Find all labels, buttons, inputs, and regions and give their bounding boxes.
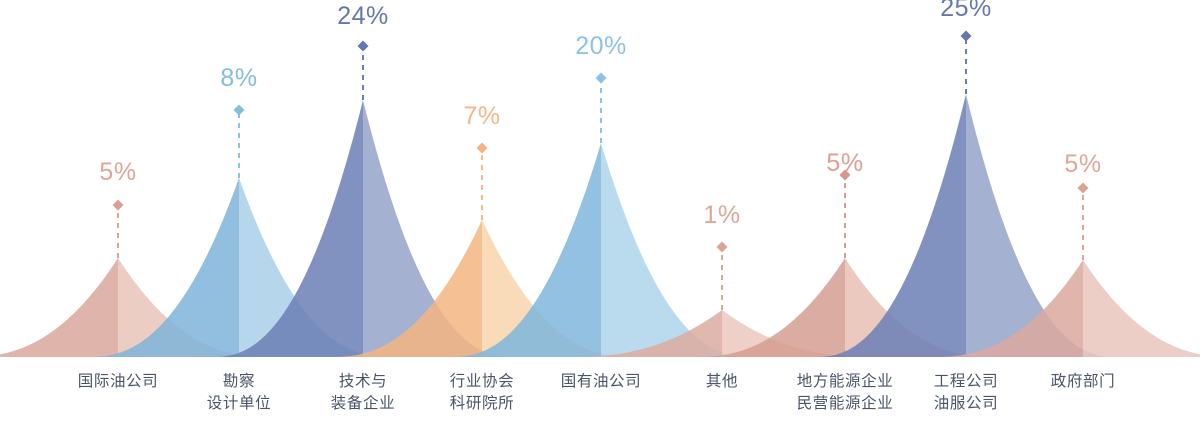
diamond-marker-icon: [1078, 183, 1089, 194]
diamond-marker-icon: [477, 143, 488, 154]
peak-leader-7: [840, 170, 851, 259]
diamond-marker-icon: [113, 200, 124, 211]
peak-leader-2: [234, 105, 245, 179]
diamond-marker-icon: [717, 242, 728, 253]
chart-container: 5%8%24%7%20%1%5%25%5%国际油公司勘察设计单位技术与装备企业行…: [0, 0, 1200, 422]
diamond-marker-icon: [234, 105, 245, 116]
diamond-marker-icon: [961, 31, 972, 42]
peak-leader-6: [717, 242, 728, 311]
diamond-marker-icon: [840, 170, 851, 181]
peak-left-face: [0, 258, 118, 357]
peak-right-face: [1083, 260, 1200, 357]
peak-leader-5: [596, 73, 607, 144]
peak-leader-3: [358, 41, 369, 101]
peak-leader-1: [113, 200, 124, 259]
peak-area-chart: [0, 0, 1200, 422]
diamond-marker-icon: [596, 73, 607, 84]
peak-leader-8: [961, 31, 972, 95]
peak-leader-9: [1078, 183, 1089, 261]
peak-leader-4: [477, 143, 488, 221]
diamond-marker-icon: [358, 41, 369, 52]
